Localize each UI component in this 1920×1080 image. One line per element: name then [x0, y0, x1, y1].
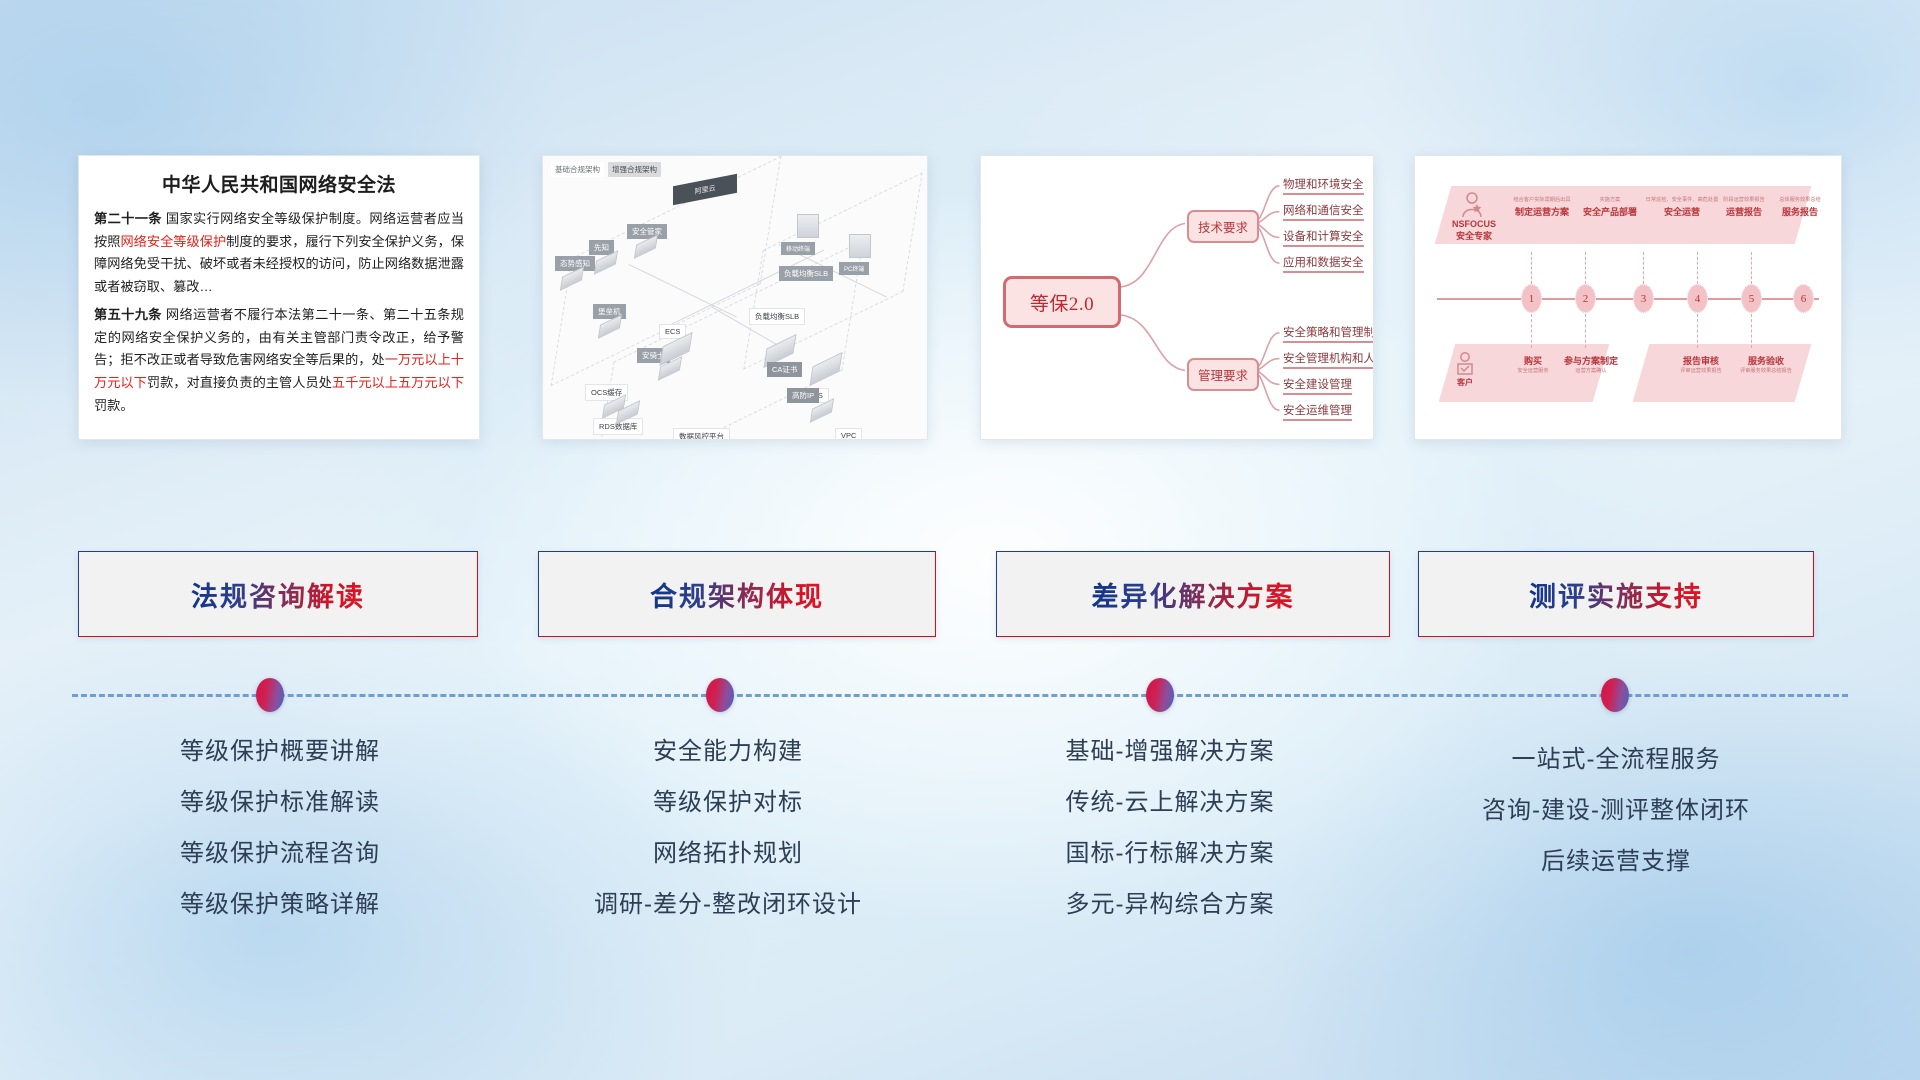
- node-situation-awareness[interactable]: 态势感知: [555, 256, 595, 271]
- mindmap-leaf-network-communication[interactable]: 网络和通信安全: [1283, 202, 1364, 221]
- timeline-step-4[interactable]: 4: [1687, 284, 1708, 313]
- timeline-top-main-5: 服务报告: [1771, 205, 1829, 218]
- timeline-top-sub-3: 日常巡检、安全事件、高危处置: [1645, 196, 1719, 203]
- axis-dot-2[interactable]: [706, 678, 734, 712]
- law-article-21: 第二十一条 国家实行网络安全等级保护制度。网络运营者应当按照网络安全等级保护制度…: [94, 208, 464, 299]
- list-item: 多元-异构综合方案: [950, 893, 1390, 917]
- title-label-4: 测评实施支持: [1529, 575, 1703, 614]
- timeline-step-3[interactable]: 3: [1633, 284, 1654, 313]
- timeline-connector: [1585, 314, 1586, 348]
- list-item: 后续运营支撑: [1396, 850, 1836, 874]
- timeline-top-sub-5: 总体服务效果总结: [1771, 196, 1829, 203]
- axis-dot-3[interactable]: [1146, 678, 1174, 712]
- mindmap-leaf-physical-environment[interactable]: 物理和环境安全: [1283, 176, 1364, 195]
- security-expert-icon: [1461, 192, 1483, 218]
- article-59-text-c: 罚款。: [94, 398, 134, 413]
- brand-subtitle: 安全专家: [1456, 231, 1492, 241]
- timeline-connector: [1751, 252, 1752, 284]
- node-risk-control[interactable]: 数据风控平台: [673, 428, 730, 440]
- mindmap-leaf-security-policy[interactable]: 安全策略和管理制度: [1283, 324, 1374, 343]
- list-item: 基础-增强解决方案: [950, 740, 1390, 764]
- list-item: 传统-云上解决方案: [950, 791, 1390, 815]
- law-title: 中华人民共和国网络安全法: [94, 170, 464, 197]
- title-label-1: 法规咨询解读: [191, 575, 365, 614]
- card-service-timeline[interactable]: NSFOCUS 安全专家 客户 结合客户实际需期后出具 制定运营方案 实施方案 …: [1414, 155, 1842, 440]
- feature-list-column-4: 一站式-全流程服务 咨询-建设-测评整体闭环 后续运营支撑: [1396, 748, 1836, 901]
- timeline-canvas: NSFOCUS 安全专家 客户 结合客户实际需期后出具 制定运营方案 实施方案 …: [1415, 156, 1841, 439]
- mindmap-canvas: 等保2.0 技术要求 物理和环境安全 网络和通信安全 设备和计算安全 应用和数据…: [981, 156, 1373, 439]
- feature-list-column-3: 基础-增强解决方案 传统-云上解决方案 国标-行标解决方案 多元-异构综合方案: [950, 740, 1390, 944]
- timeline-top-item-1: 结合客户实际需期后出具 制定运营方案: [1507, 196, 1577, 218]
- timeline-top-sub-1: 结合客户实际需期后出具: [1507, 196, 1577, 203]
- tab-enhanced-architecture[interactable]: 增强合规架构: [608, 162, 661, 177]
- mindmap-leaf-application-data[interactable]: 应用和数据安全: [1283, 254, 1364, 273]
- node-mobile-terminal[interactable]: 移动终端: [781, 242, 815, 255]
- mindmap-leaf-device-computing[interactable]: 设备和计算安全: [1283, 228, 1364, 247]
- axis-dot-1[interactable]: [256, 678, 284, 712]
- title-label-3: 差异化解决方案: [1092, 575, 1295, 614]
- timeline-top-item-4: 阶段运营效果报告 运营报告: [1713, 196, 1775, 218]
- screenshot-cards-row: 中华人民共和国网络安全法 第二十一条 国家实行网络安全等级保护制度。网络运营者应…: [0, 0, 1920, 440]
- mindmap-leaf-construction-management[interactable]: 安全建设管理: [1283, 376, 1352, 395]
- article-59-highlight-2: 五千元以上五万元以下: [332, 375, 464, 390]
- timeline-step-5[interactable]: 5: [1741, 284, 1762, 313]
- title-label-2: 合规架构体现: [650, 575, 824, 614]
- timeline-step-6[interactable]: 6: [1793, 284, 1814, 313]
- node-load-balancer-slb[interactable]: 负载均衡SLB: [749, 308, 805, 325]
- card-architecture-diagram[interactable]: 基础合规架构 增强合规架构 阿里云 态势感知 先知 安全管家 堡垒机 安骑士: [542, 155, 928, 440]
- card-mindmap-dengbao[interactable]: 等保2.0 技术要求 物理和环境安全 网络和通信安全 设备和计算安全 应用和数据…: [980, 155, 1374, 440]
- feature-list-column-1: 等级保护概要讲解 等级保护标准解读 等级保护流程咨询 等级保护策略详解: [60, 740, 500, 944]
- timeline-bottom-item-1: 购买 安全运营服务: [1507, 354, 1559, 376]
- architecture-canvas: 基础合规架构 增强合规架构 阿里云 态势感知 先知 安全管家 堡垒机 安骑士: [543, 156, 927, 439]
- timeline-connector: [1531, 252, 1532, 284]
- timeline-top-main-1: 制定运营方案: [1507, 205, 1577, 218]
- axis-dot-4[interactable]: [1601, 678, 1629, 712]
- mindmap-root-node[interactable]: 等保2.0: [1003, 276, 1121, 328]
- brand-name: NSFOCUS: [1452, 219, 1496, 229]
- timeline-bottom-main-1: 购买: [1507, 354, 1559, 367]
- icon-mobile-terminal: [797, 214, 819, 238]
- title-box-compliance-architecture[interactable]: 合规架构体现: [538, 551, 936, 637]
- timeline-step-1[interactable]: 1: [1521, 284, 1542, 313]
- architecture-tabs[interactable]: 基础合规架构 增强合规架构: [551, 162, 661, 177]
- title-box-regulation-consulting[interactable]: 法规咨询解读: [78, 551, 478, 637]
- list-item: 网络拓扑规划: [508, 842, 948, 866]
- timeline-bottom-sub-2: 运营方案确认: [1559, 367, 1623, 374]
- timeline-bottom-sub-3: 评审运营效果报告: [1671, 367, 1731, 374]
- article-21-label: 第二十一条: [94, 211, 162, 226]
- timeline-connector: [1751, 314, 1752, 348]
- article-59-text-b: 罚款，对直接负责的主管人员处: [147, 375, 332, 390]
- timeline-dashed-axis: [72, 694, 1848, 697]
- icon-pc-terminal: [849, 234, 871, 258]
- law-document-body: 中华人民共和国网络安全法 第二十一条 国家实行网络安全等级保护制度。网络运营者应…: [79, 156, 479, 432]
- timeline-connector: [1531, 314, 1532, 348]
- timeline-bottom-main-4: 服务验收: [1733, 354, 1799, 367]
- timeline-connector: [1697, 252, 1698, 284]
- list-item: 等级保护概要讲解: [60, 740, 500, 764]
- law-article-59: 第五十九条 网络运营者不履行本法第二十一条、第二十五条规定的网络安全保护义务的，…: [94, 304, 464, 418]
- node-anti-ddos-ip[interactable]: 高防IP: [787, 388, 819, 403]
- timeline-bottom-sub-1: 安全运营服务: [1507, 367, 1559, 374]
- timeline-customer-label: 客户: [1441, 378, 1489, 389]
- mindmap-branch-management[interactable]: 管理要求: [1187, 358, 1259, 391]
- timeline-bottom-item-3: 报告审核 评审运营效果报告: [1671, 354, 1731, 376]
- list-item: 国标-行标解决方案: [950, 842, 1390, 866]
- card-law-document[interactable]: 中华人民共和国网络安全法 第二十一条 国家实行网络安全等级保护制度。网络运营者应…: [78, 155, 480, 440]
- list-item: 咨询-建设-测评整体闭环: [1396, 799, 1836, 823]
- list-item: 安全能力构建: [508, 740, 948, 764]
- timeline-connector: [1585, 252, 1586, 284]
- node-web-application-firewall[interactable]: 负载均衡SLB: [779, 266, 833, 281]
- node-security-butler[interactable]: 安全管家: [627, 224, 667, 239]
- title-box-evaluation-support[interactable]: 测评实施支持: [1418, 551, 1814, 637]
- tab-basic-architecture[interactable]: 基础合规架构: [551, 162, 604, 177]
- article-21-highlight: 网络安全等级保护: [120, 234, 226, 249]
- timeline-bottom-item-4: 服务验收 评审服务效果总结报告: [1733, 354, 1799, 376]
- list-item: 等级保护对标: [508, 791, 948, 815]
- article-59-label: 第五十九条: [94, 307, 162, 322]
- timeline-top-item-3: 日常巡检、安全事件、高危处置 安全运营: [1645, 196, 1719, 218]
- list-item: 等级保护流程咨询: [60, 842, 500, 866]
- mindmap-leaf-security-org-personnel[interactable]: 安全管理机构和人员: [1283, 350, 1374, 369]
- feature-list-column-2: 安全能力构建 等级保护对标 网络拓扑规划 调研-差分-整改闭环设计: [508, 740, 948, 944]
- timeline-top-sub-4: 阶段运营效果报告: [1713, 196, 1775, 203]
- node-vpc[interactable]: VPC: [835, 428, 862, 440]
- mindmap-leaf-operations-management[interactable]: 安全运维管理: [1283, 402, 1352, 421]
- timeline-step-2[interactable]: 2: [1575, 284, 1596, 313]
- timeline-bottom-main-3: 报告审核: [1671, 354, 1731, 367]
- timeline-top-item-5: 总体服务效果总结 服务报告: [1771, 196, 1829, 218]
- timeline-brand: NSFOCUS 安全专家: [1447, 218, 1501, 242]
- timeline-bottom-sub-4: 评审服务效果总结报告: [1733, 367, 1799, 374]
- timeline-top-item-2: 实施方案 安全产品部署: [1573, 196, 1647, 218]
- list-item: 等级保护标准解读: [60, 791, 500, 815]
- mindmap-branch-technical[interactable]: 技术要求: [1187, 210, 1259, 243]
- list-item: 调研-差分-整改闭环设计: [508, 893, 948, 917]
- title-box-differentiated-solution[interactable]: 差异化解决方案: [996, 551, 1390, 637]
- timeline-top-main-2: 安全产品部署: [1573, 205, 1647, 218]
- timeline-connector: [1697, 314, 1698, 348]
- timeline-top-main-3: 安全运营: [1645, 205, 1719, 218]
- timeline-top-main-4: 运营报告: [1713, 205, 1775, 218]
- timeline-top-sub-2: 实施方案: [1573, 196, 1647, 203]
- timeline-bottom-main-2: 参与方案制定: [1559, 354, 1623, 367]
- list-item: 一站式-全流程服务: [1396, 748, 1836, 772]
- node-ca-certificate[interactable]: CA证书: [767, 362, 802, 377]
- customer-icon: [1455, 352, 1475, 376]
- timeline-connector: [1643, 252, 1644, 284]
- timeline-bottom-item-2: 参与方案制定 运营方案确认: [1559, 354, 1623, 376]
- list-item: 等级保护策略详解: [60, 893, 500, 917]
- node-pc-terminal[interactable]: PC终端: [839, 262, 869, 275]
